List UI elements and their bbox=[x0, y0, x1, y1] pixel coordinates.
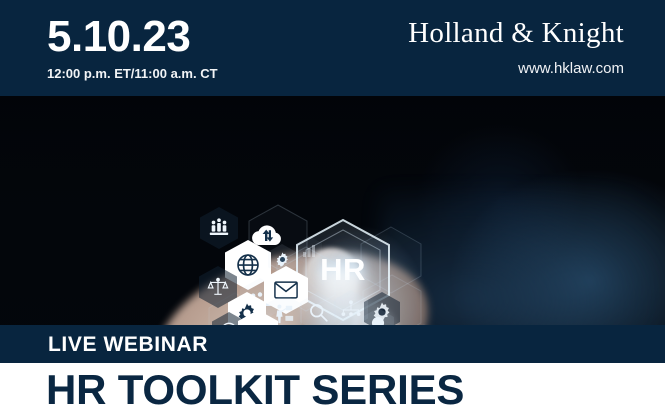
webinar-promo-poster: 5.10.23 12:00 p.m. ET/11:00 a.m. CT Holl… bbox=[0, 0, 665, 418]
live-webinar-band: LIVE WEBINAR bbox=[0, 325, 665, 363]
header-band: 5.10.23 12:00 p.m. ET/11:00 a.m. CT Holl… bbox=[0, 0, 665, 96]
org-chart-icon bbox=[200, 207, 238, 249]
brand-logo-wordmark: Holland & Knight bbox=[408, 16, 624, 50]
live-webinar-label: LIVE WEBINAR bbox=[48, 332, 208, 357]
page-title: HR TOOLKIT SERIES bbox=[46, 365, 464, 415]
event-datetime-block: 5.10.23 12:00 p.m. ET/11:00 a.m. CT bbox=[47, 12, 218, 82]
event-date: 5.10.23 bbox=[47, 12, 218, 62]
brand-website-url[interactable]: www.hklaw.com bbox=[408, 59, 624, 79]
hexagon-icon-network: HR bbox=[0, 96, 665, 325]
event-time: 12:00 p.m. ET/11:00 a.m. CT bbox=[47, 66, 218, 82]
hero-image: HR bbox=[0, 96, 665, 325]
title-area: HR TOOLKIT SERIES bbox=[0, 363, 665, 418]
brand-block: Holland & Knight www.hklaw.com bbox=[408, 16, 624, 79]
